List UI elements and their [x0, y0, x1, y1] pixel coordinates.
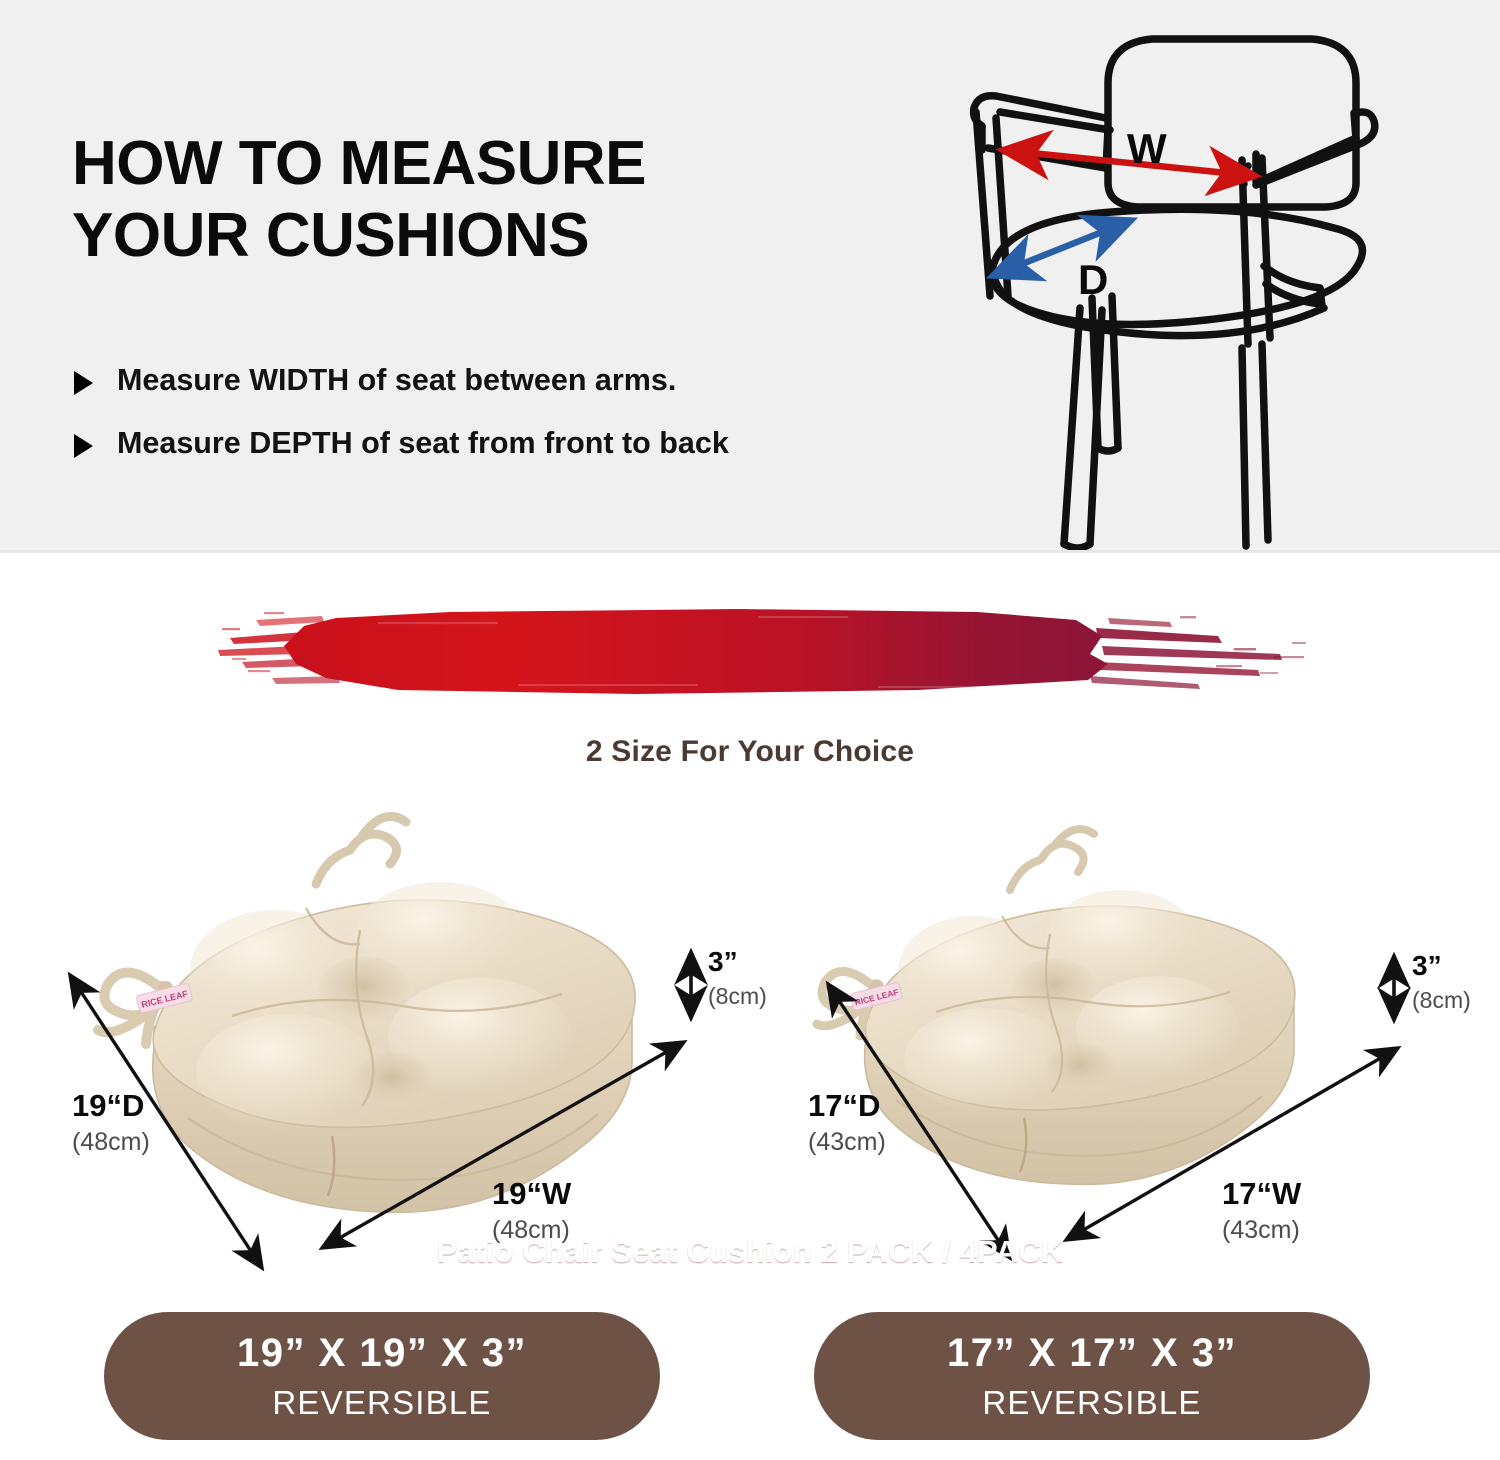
depth-metric-large: (48cm)	[72, 1130, 150, 1155]
depth-value-small: 17“D	[808, 1090, 886, 1121]
reversible-label-small: REVERSIBLE	[814, 1384, 1370, 1422]
height-value-large: 3”	[708, 948, 767, 976]
depth-label-small: 17“D (43cm)	[808, 1090, 886, 1155]
size-dimensions-small: 17” X 17” X 3”	[814, 1332, 1370, 1374]
promo-banner: Patio Chair Seat Cushion 2 PACK / 4PACK	[0, 590, 1500, 720]
reversible-label-large: REVERSIBLE	[104, 1384, 660, 1422]
page-title: HOW TO MEASURE YOUR CUSHIONS	[72, 128, 852, 272]
chair-width-label: W	[1127, 125, 1167, 173]
instruction-text: Measure DEPTH of seat from front to back	[117, 425, 729, 462]
height-label-small: 3” (8cm)	[1412, 952, 1471, 1012]
depth-label-large: 19“D (48cm)	[72, 1090, 150, 1155]
cushion-image-small: RICE LEAF	[810, 800, 1340, 1230]
chair-depth-label: D	[1078, 256, 1108, 304]
instruction-list: Measure WIDTH of seat between arms. Meas…	[74, 362, 894, 487]
cushion-image-large: RICE LEAF	[92, 780, 692, 1260]
product-small: RICE LEAF	[750, 760, 1500, 1300]
height-value-small: 3”	[1412, 952, 1471, 980]
page-title-line-1: HOW TO MEASURE	[72, 128, 852, 200]
depth-metric-small: (43cm)	[808, 1130, 886, 1155]
triangle-bullet-icon	[74, 434, 93, 458]
size-dimensions-large: 19” X 19” X 3”	[104, 1332, 660, 1374]
infographic-page: HOW TO MEASURE YOUR CUSHIONS Measure WID…	[0, 0, 1500, 1460]
chair-line-drawing	[940, 8, 1390, 553]
chair-diagram: W D	[940, 8, 1390, 553]
instruction-text: Measure WIDTH of seat between arms.	[117, 362, 676, 399]
width-value-small: 17“W	[1222, 1178, 1301, 1209]
banner-title: Patio Chair Seat Cushion 2 PACK / 4PACK	[0, 1234, 1500, 1270]
height-label-large: 3” (8cm)	[708, 948, 767, 1008]
width-value-large: 19“W	[492, 1178, 571, 1209]
list-item: Measure DEPTH of seat from front to back	[74, 425, 894, 462]
depth-value-large: 19“D	[72, 1090, 150, 1121]
page-title-line-2: YOUR CUSHIONS	[72, 200, 852, 272]
triangle-bullet-icon	[74, 371, 93, 395]
how-to-measure-section: HOW TO MEASURE YOUR CUSHIONS Measure WID…	[0, 0, 1500, 553]
list-item: Measure WIDTH of seat between arms.	[74, 362, 894, 399]
brush-stroke-graphic	[218, 598, 1328, 710]
depth-arrow-icon	[992, 220, 1132, 276]
product-large: RICE LEAF	[0, 760, 750, 1300]
height-metric-small: (8cm)	[1412, 989, 1471, 1012]
height-metric-large: (8cm)	[708, 985, 767, 1008]
size-option-small[interactable]: 17” X 17” X 3” REVERSIBLE	[814, 1312, 1370, 1440]
size-option-large[interactable]: 19” X 19” X 3” REVERSIBLE	[104, 1312, 660, 1440]
